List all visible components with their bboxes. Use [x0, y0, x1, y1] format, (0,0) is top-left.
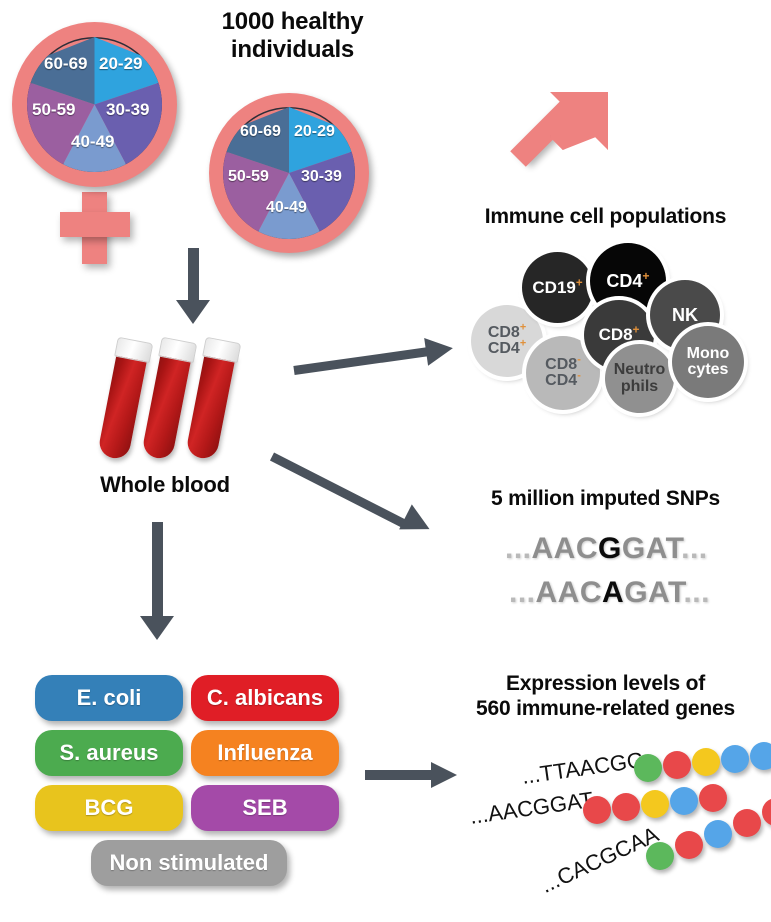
snp-suffix: ... — [683, 576, 710, 609]
mrna-bead — [699, 784, 727, 812]
cell-label: CD19+ — [532, 279, 582, 296]
mrna-bead — [641, 790, 669, 818]
mrna-bead — [750, 742, 771, 770]
pie-label-60-69: 60-69 — [240, 123, 281, 141]
mrna-bead — [692, 748, 720, 776]
snp-prefix: ... — [505, 532, 532, 565]
stimulus-seb[interactable]: SEB — [191, 785, 339, 831]
stimulus-influenza[interactable]: Influenza — [191, 730, 339, 776]
pie-label-50-59: 50-59 — [32, 100, 75, 120]
stimulus-e-coli[interactable]: E. coli — [35, 675, 183, 721]
arrow-shaft — [365, 770, 433, 780]
cell-label: Mono cytes — [687, 346, 730, 379]
section-title-snps: 5 million imputed SNPs — [440, 487, 771, 512]
mrna-bead — [762, 798, 771, 826]
pie-label-20-29: 20-29 — [99, 54, 142, 74]
section-title-immune: Immune cell populations — [440, 205, 771, 230]
pie-label-60-69: 60-69 — [44, 54, 87, 74]
mrna-bead — [663, 751, 691, 779]
stimulus-c-albicans[interactable]: C. albicans — [191, 675, 339, 721]
snp-prefix: ... — [509, 576, 536, 609]
section-title-expression: Expression levels of 560 immune-related … — [440, 672, 771, 722]
arrow-shaft — [270, 452, 408, 528]
cell-label: CD8- CD4- — [545, 357, 581, 390]
page-title-line1: 1000 healthy — [175, 8, 410, 36]
mrna-bead — [704, 820, 732, 848]
immune-cell-cluster: CD8+ CD4+ CD19+ CD4+ CD8- CD4- CD8+ Neut… — [460, 240, 771, 415]
snp-left: AAC — [532, 532, 599, 565]
arrow-head — [424, 334, 455, 365]
mrna-bead — [646, 842, 674, 870]
pie-label-20-29: 20-29 — [294, 123, 335, 141]
mrna-sequence: ...AACGGAT — [468, 787, 595, 830]
mrna-bead — [675, 831, 703, 859]
cell-label: NK — [672, 306, 698, 324]
female-symbol: 20-29 30-39 40-49 50-59 60-69 — [10, 14, 185, 264]
mrna-strands: ...TTAACGG ...AACGGAT ...CACGCAA — [440, 730, 771, 920]
female-symbol-stem-cross — [60, 212, 130, 237]
mrna-bead — [583, 796, 611, 824]
arrow-head — [399, 504, 436, 541]
stimulus-s-aureus[interactable]: S. aureus — [35, 730, 183, 776]
pie-label-30-39: 30-39 — [106, 100, 149, 120]
cell-label: CD4+ — [606, 272, 649, 290]
mrna-bead — [634, 754, 662, 782]
immune-cell-monocytes: Mono cytes — [672, 326, 744, 398]
arrow-shaft — [188, 248, 199, 303]
arrow-head — [140, 616, 174, 640]
immune-cell-cd19: CD19+ — [522, 252, 593, 323]
male-symbol-arrow-head — [550, 92, 608, 150]
blood-tubes-group — [100, 335, 260, 465]
stimulus-non-stimulated[interactable]: Non stimulated — [91, 840, 287, 886]
snp-right: GAT — [624, 576, 683, 609]
section-title-expression-line2: 560 immune-related genes — [440, 697, 771, 722]
pie-label-40-49: 40-49 — [71, 132, 114, 152]
mrna-bead — [721, 745, 749, 773]
snp-suffix: ... — [681, 532, 708, 565]
pie-label-50-59: 50-59 — [228, 168, 269, 186]
snp-variant: G — [598, 532, 622, 565]
mrna-sequence: ...CACGCAA — [537, 821, 663, 898]
male-symbol: 20-29 30-39 40-49 50-59 60-69 — [195, 60, 425, 260]
arrow-shaft — [152, 522, 163, 619]
snp-left: AAC — [536, 576, 603, 609]
mrna-bead — [733, 809, 761, 837]
snp-sequences: ...AACGGAT... ...AACAGAT... — [505, 532, 771, 622]
section-title-expression-line1: Expression levels of — [440, 672, 771, 697]
pie-label-40-49: 40-49 — [266, 199, 307, 217]
arrow-head — [176, 300, 210, 324]
snp-sequence-row: ...AACGGAT... — [505, 532, 708, 566]
mrna-bead — [670, 787, 698, 815]
cell-label: CD8+ — [599, 326, 640, 343]
snp-right: GAT — [622, 532, 681, 565]
mrna-sequence: ...TTAACGG — [520, 747, 645, 790]
arrow-shaft — [293, 347, 433, 375]
snp-variant: A — [602, 576, 624, 609]
mrna-bead — [612, 793, 640, 821]
cell-label: Neutro phils — [614, 362, 666, 395]
label-whole-blood: Whole blood — [55, 472, 275, 498]
snp-sequence-row: ...AACAGAT... — [509, 576, 710, 610]
immune-cell-neutrophils: Neutro phils — [605, 344, 674, 413]
cell-label: CD8+ CD4+ — [488, 325, 526, 358]
pie-label-30-39: 30-39 — [301, 168, 342, 186]
stimuli-group: E. coli C. albicans S. aureus Influenza … — [35, 675, 345, 905]
page-title-cohort: 1000 healthy individuals — [175, 8, 410, 65]
stimulus-bcg[interactable]: BCG — [35, 785, 183, 831]
